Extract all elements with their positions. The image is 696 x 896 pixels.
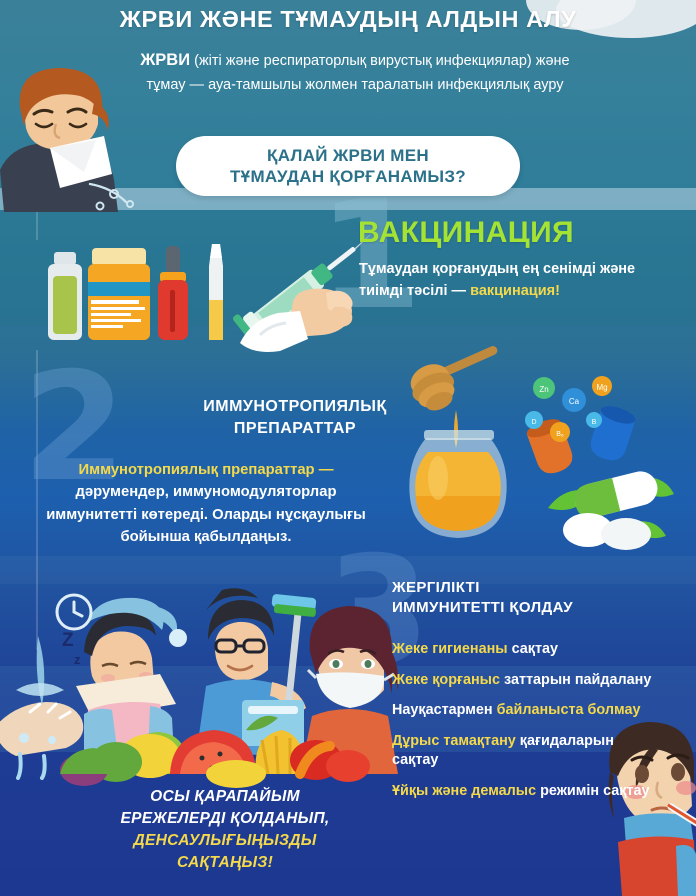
list-item: Жеке қорғаныс заттарын пайдалану [392,671,654,691]
svg-text:Mg: Mg [596,383,607,392]
list-item-text: сақтау [512,641,558,657]
list-item-highlight: Дұрыс тамақтану [392,733,520,749]
healthy-habits-illustration: Z z [0,578,400,778]
section-2-body-white: дәрумендер, иммуномодуляторлар иммунитет… [46,484,366,545]
list-item-highlight: Жеке қорғаныс [392,672,504,688]
section-2-body-highlight: Иммунотропиялық препараттар — [78,462,333,478]
slogan-line-2: ЕРЕЖЕЛЕРДІ ҚОЛДАНЫП, [62,808,388,830]
list-item: Ұйқы және демалыс режимін сақтау [392,782,654,802]
section-2-heading: ИММУНОТРОПИЯЛЫҚ ПРЕПАРАТТАР [150,396,440,439]
list-item-highlight: Жеке гигиенаны [392,641,512,657]
subtitle-lead: ЖРВИ [140,51,190,69]
infographic-poster: 1 2 3 [0,0,696,896]
svg-text:Z: Z [62,630,74,651]
list-item: Дұрыс тамақтану қағидаларын сақтау [392,732,654,771]
section-2-body: Иммунотропиялық препараттар — дәрумендер… [30,459,382,549]
list-item: Науқастармен байланыста болмау [392,701,654,721]
question-line-1: ҚАЛАЙ ЖРВИ МЕН [230,145,466,166]
closing-slogan: ОСЫ ҚАРАПАЙЫМ ЕРЕЖЕЛЕРДІ ҚОЛДАНЫП, ДЕНСА… [62,786,388,874]
svg-text:Ca: Ca [569,397,580,406]
section-3-heading-line-2: ИММУНИТЕТТІ ҚОЛДАУ [392,598,682,618]
list-item-highlight: Ұйқы және демалыс [392,783,540,799]
svg-text:Zn: Zn [539,385,548,394]
svg-text:z: z [74,652,81,667]
svg-text:D: D [531,419,536,426]
svg-text:B: B [592,419,597,426]
list-item-text: режимін сақтау [540,783,649,799]
section-2-heading-line-2: ПРЕПАРАТТАР [150,418,440,440]
section-3-heading: ЖЕРГІЛІКТІ ИММУНИТЕТТІ ҚОЛДАУ [392,578,682,619]
slogan-line-4: САҚТАҢЫЗ! [62,852,388,874]
slogan-line-3: ДЕНСАУЛЫҒЫҢЫЗДЫ [62,830,388,852]
svg-text:B₆: B₆ [556,431,564,438]
list-item: Жеке гигиенаны сақтау [392,640,654,660]
section-3-heading-line-1: ЖЕРГІЛІКТІ [392,578,682,598]
slogan-line-1: ОСЫ ҚАРАПАЙЫМ [62,786,388,808]
section-1-body-highlight: вакцинация! [470,283,560,299]
question-line-2: ТҰМАУДАН ҚОРҒАНАМЫЗ? [230,166,466,187]
honey-and-vitamins-illustration: Zn Ca Mg D B₆ B [398,358,688,554]
question-banner: ҚАЛАЙ ЖРВИ МЕН ТҰМАУДАН ҚОРҒАНАМЫЗ? [176,136,520,196]
section-1-body: Тұмаудан қорғанудың ең сенімді және тиім… [359,258,639,302]
list-item-text: Науқастармен [392,702,497,718]
subtitle-rest: (жіті және респираторлық вирустық инфекц… [147,53,570,93]
list-item-highlight: байланыста болмау [497,702,641,718]
section-1-heading: ВАКЦИНАЦИЯ [358,216,574,250]
section-3-list: Жеке гигиенаны сақтау Жеке қорғаныс затт… [392,640,654,812]
list-item-text: заттарын пайдалану [504,672,651,688]
section-2-heading-line-1: ИММУНОТРОПИЯЛЫҚ [150,396,440,418]
question-banner-text: ҚАЛАЙ ЖРВИ МЕН ТҰМАУДАН ҚОРҒАНАМЫЗ? [230,145,466,188]
page-title: ЖРВИ ЖӘНЕ ТҰМАУДЫҢ АЛДЫН АЛУ [0,6,696,33]
subtitle-text: ЖРВИ (жіті және респираторлық вирустық и… [120,47,590,97]
